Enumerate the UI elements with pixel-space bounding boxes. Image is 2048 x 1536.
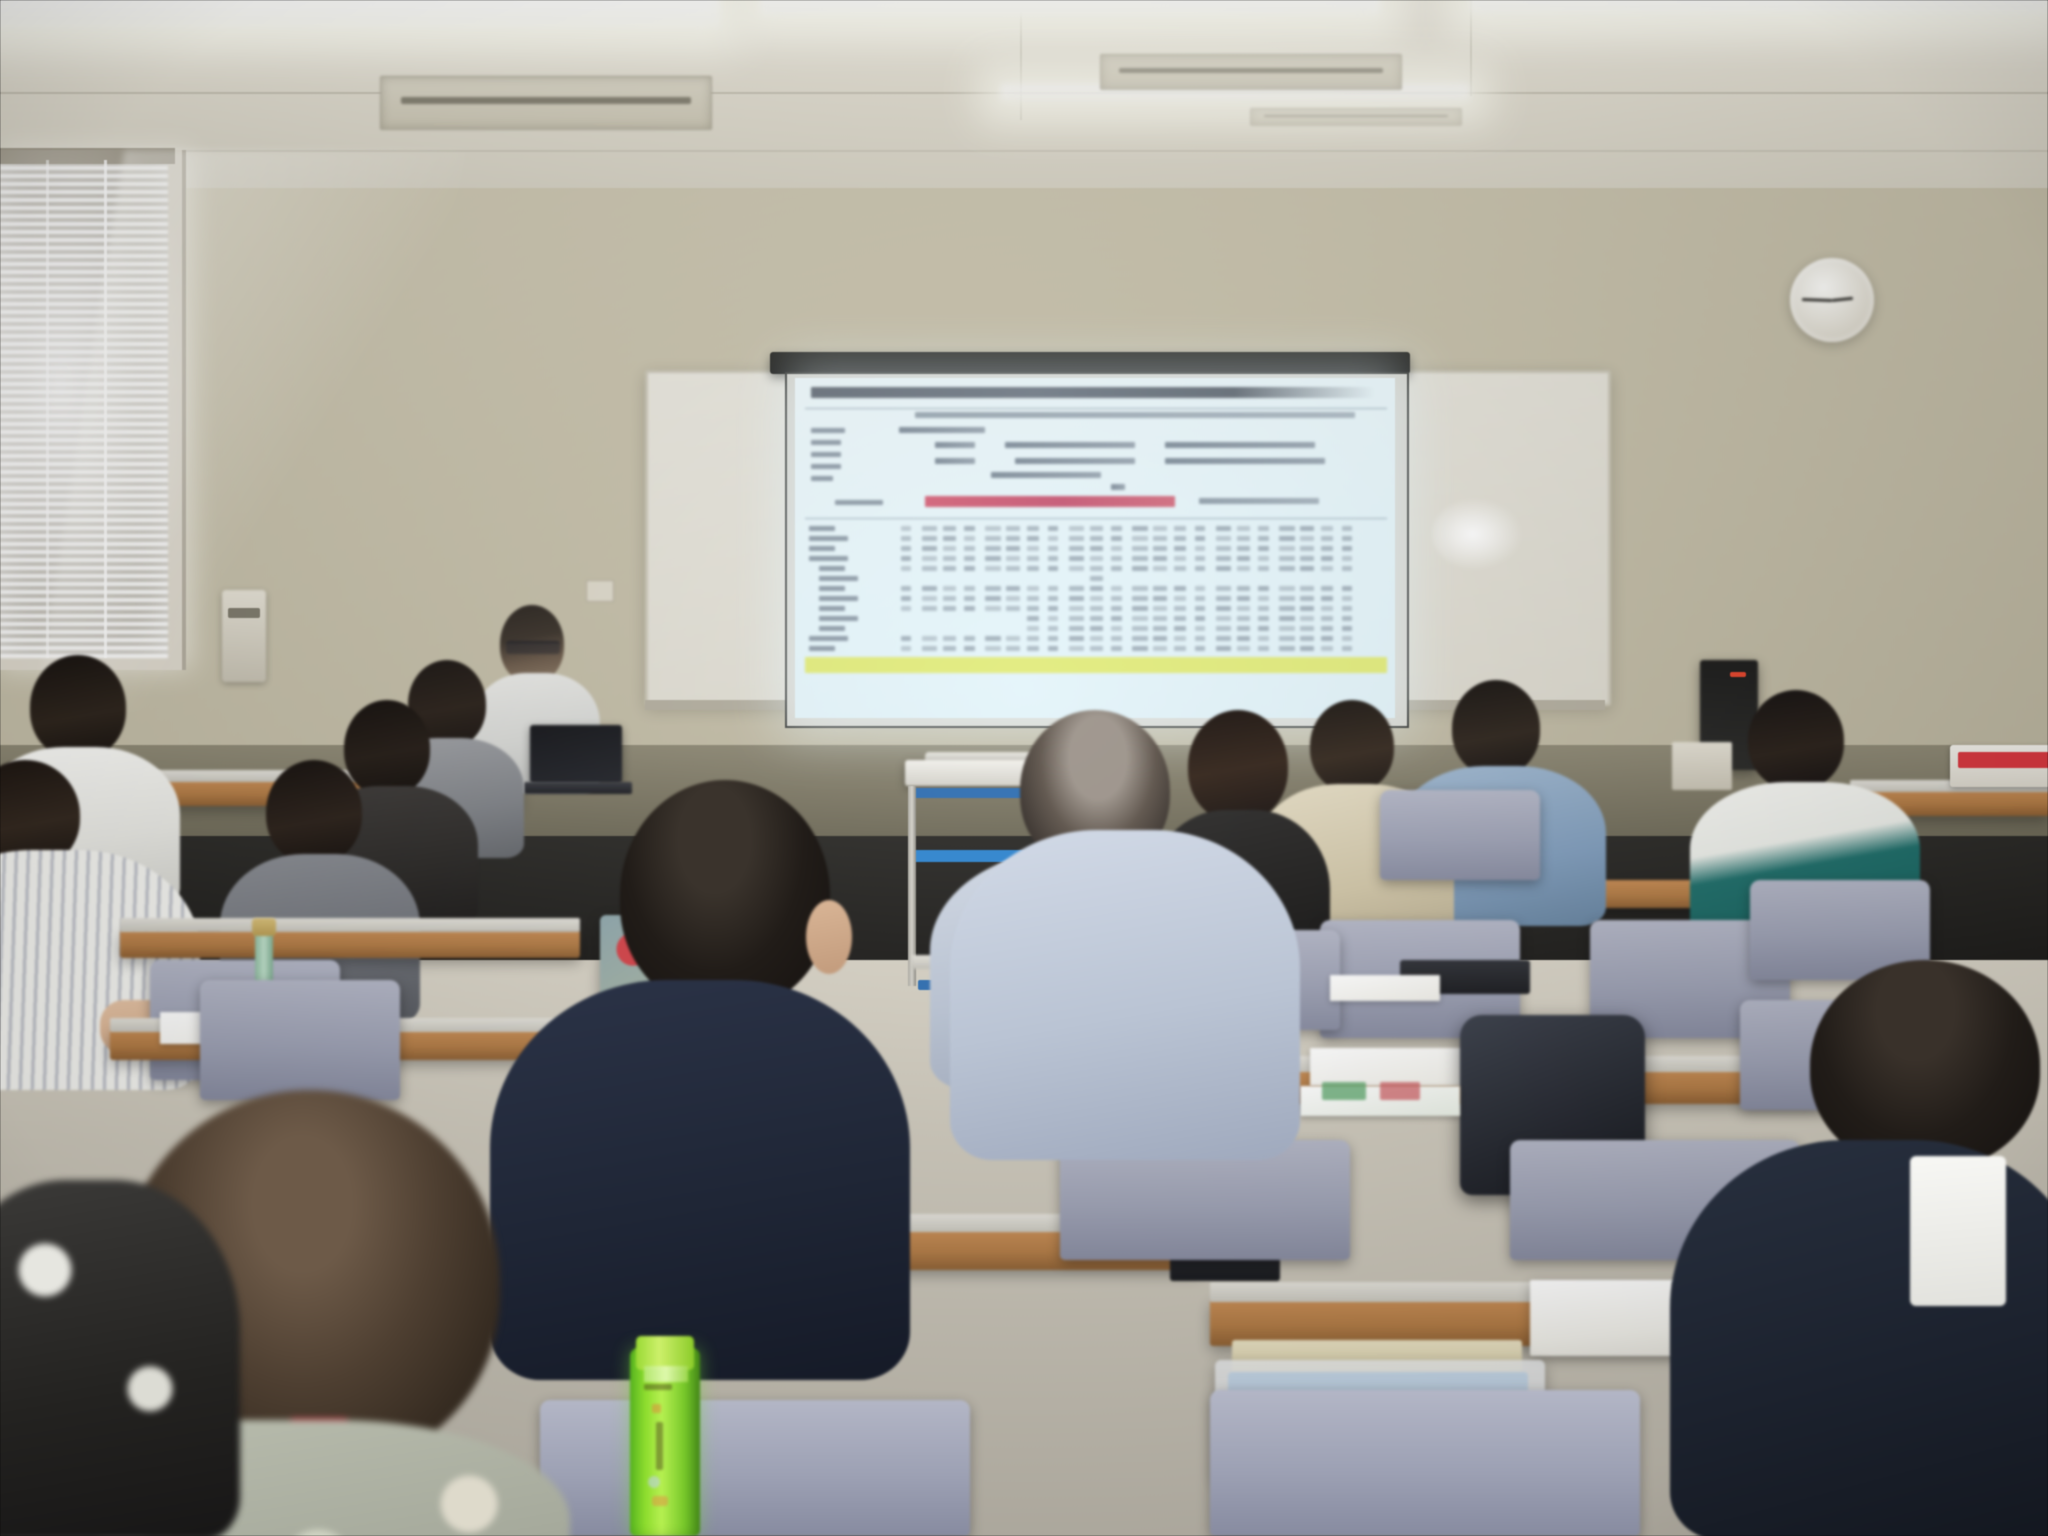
slide-table-cell xyxy=(1258,526,1269,531)
slide-table-cell xyxy=(1111,596,1122,601)
slide-row-label xyxy=(809,646,835,651)
chair[interactable] xyxy=(540,1400,970,1536)
slide-table-cell xyxy=(1195,546,1205,551)
slide-table-cell xyxy=(922,646,937,651)
slide-table-cell xyxy=(1342,556,1352,561)
slide-table-cell xyxy=(1300,546,1314,551)
slide-table-cell xyxy=(1195,636,1205,641)
slide-row-label xyxy=(819,566,845,571)
slide-table-cell xyxy=(1111,526,1122,531)
slide-table-cell xyxy=(1279,536,1295,541)
red-box-label xyxy=(1958,752,2048,768)
slide-table-cell xyxy=(1132,526,1148,531)
slide-table-cell xyxy=(1006,586,1020,591)
slide-table-cell xyxy=(1132,616,1148,621)
slide-table-cell xyxy=(1300,616,1314,621)
slide-table-cell xyxy=(1174,596,1186,601)
slide-table-cell xyxy=(1216,646,1231,651)
slide-table-cell xyxy=(1342,586,1352,591)
slide-table-cell xyxy=(1090,596,1103,601)
slide-table-cell xyxy=(1342,536,1352,541)
slide-table-cell xyxy=(1006,646,1020,651)
slide-table-cell xyxy=(1027,556,1039,561)
slide-table-cell xyxy=(1153,636,1167,641)
slide-table-cell xyxy=(1132,636,1148,641)
wall-phone-slot xyxy=(228,608,260,618)
slide-table-cell xyxy=(1174,536,1186,541)
slide-table-cell xyxy=(1216,586,1231,591)
slide-table-cell xyxy=(1300,636,1314,641)
slide-table-cell xyxy=(1090,576,1103,581)
slide-table-cell xyxy=(1069,616,1084,621)
slide-highlight-text xyxy=(925,496,1175,507)
slide-row-label xyxy=(809,526,835,531)
slide-table-cell xyxy=(964,606,975,611)
slide-table-cell xyxy=(1069,626,1084,631)
attendee-head xyxy=(1188,710,1288,822)
slide-table-cell xyxy=(985,536,1001,541)
slide-table-cell xyxy=(1048,616,1058,621)
slide-table-cell xyxy=(1216,526,1231,531)
slide-table-cell xyxy=(922,536,937,541)
slide-table-cell xyxy=(1006,536,1020,541)
slide-table-cell xyxy=(1300,536,1314,541)
slide-table-cell xyxy=(943,606,956,611)
slide-row-label xyxy=(809,556,848,561)
desk xyxy=(120,930,580,958)
slide-table-cell xyxy=(1153,626,1167,631)
slide-table-cell xyxy=(1090,636,1103,641)
slide-table-cell xyxy=(1216,566,1231,571)
slide-table-cell xyxy=(1111,626,1122,631)
air-vent xyxy=(1100,54,1402,90)
slide-row-label xyxy=(819,586,845,591)
slide-table-cell xyxy=(1090,536,1103,541)
slide-table-cell xyxy=(1006,566,1020,571)
slide-row-label xyxy=(819,616,858,621)
slide-table-cell xyxy=(1195,586,1205,591)
slide-table-cell xyxy=(1132,646,1148,651)
attendee-head xyxy=(344,700,430,796)
slide-table-cell xyxy=(922,566,937,571)
slide-table-cell xyxy=(1321,536,1333,541)
slide-table-cell xyxy=(1258,596,1269,601)
slide-table-cell xyxy=(1258,616,1269,621)
slide-table-cell xyxy=(1300,596,1314,601)
slide-table-cell xyxy=(1216,616,1231,621)
slide-table-cell xyxy=(1111,556,1122,561)
slide-table-cell xyxy=(1279,616,1295,621)
slide-table-cell xyxy=(1132,606,1148,611)
slide-table-cell xyxy=(985,646,1001,651)
slide-table-cell xyxy=(943,536,956,541)
slide-table-cell xyxy=(1090,616,1103,621)
bottle-label-mark xyxy=(652,1496,668,1506)
ceiling-tile-line xyxy=(1020,0,1022,120)
slide-row-label xyxy=(809,636,848,641)
slide-table-cell xyxy=(1321,526,1333,531)
slide-table-cell xyxy=(985,586,1001,591)
ceiling-light xyxy=(0,0,720,28)
slide-table-cell xyxy=(1111,606,1122,611)
slide-table-cell xyxy=(1195,566,1205,571)
slide-table-cell xyxy=(1069,586,1084,591)
chair[interactable] xyxy=(200,980,400,1100)
slide-table-cell xyxy=(1321,626,1333,631)
slide-table-cell xyxy=(1195,536,1205,541)
slide-table-cell xyxy=(1321,586,1333,591)
slide-table-cell xyxy=(943,566,956,571)
slide-table-cell xyxy=(1132,566,1148,571)
slide-table-cell xyxy=(1342,626,1352,631)
slide-table-cell xyxy=(1258,546,1269,551)
slide-table-cell xyxy=(1111,586,1122,591)
slide-table-cell xyxy=(964,596,975,601)
slide-table-cell xyxy=(1195,626,1205,631)
attendee-torso xyxy=(490,980,910,1380)
chair[interactable] xyxy=(1210,1390,1640,1536)
slide-table-cell xyxy=(1048,626,1058,631)
attendee-ear xyxy=(806,900,852,974)
whiteboard-glare xyxy=(1432,498,1522,570)
slide-table-cell xyxy=(1342,546,1352,551)
slide-table-cell xyxy=(1216,546,1231,551)
laptop-keyboard-base xyxy=(524,782,632,794)
slide-table-cell xyxy=(901,546,911,551)
umbrella-handle xyxy=(252,918,276,936)
slide-table-cell xyxy=(1237,636,1250,641)
wall-outlet xyxy=(586,580,614,602)
slide-table-cell xyxy=(943,646,956,651)
slide-table-cell xyxy=(901,596,911,601)
bottle-neck xyxy=(644,1366,688,1382)
bottle-label-mark xyxy=(652,1404,661,1413)
slide-table-cell xyxy=(1237,586,1250,591)
slide-table-cell xyxy=(1237,546,1250,551)
slide-table-cell xyxy=(1090,606,1103,611)
paper-red-mark xyxy=(1380,1082,1420,1100)
bottle-cap[interactable] xyxy=(636,1336,694,1370)
slide-table-cell xyxy=(943,636,956,641)
slide-table-cell xyxy=(1279,646,1295,651)
slide-table-cell xyxy=(1258,606,1269,611)
slide-table-cell xyxy=(985,636,1001,641)
slide-table-cell xyxy=(1153,526,1167,531)
slide-table-cell xyxy=(1321,606,1333,611)
ceiling-light xyxy=(1470,0,2048,14)
slide-table-cell xyxy=(1153,586,1167,591)
slide-table-cell xyxy=(1006,546,1020,551)
slide-row-label xyxy=(819,596,858,601)
slide-table-cell xyxy=(964,566,975,571)
attendee-collar xyxy=(1910,1156,2006,1306)
slide-table-cell xyxy=(1069,536,1084,541)
slide-table-cell xyxy=(1174,616,1186,621)
slide-yellow-row xyxy=(805,657,1387,673)
slide-table-cell xyxy=(1258,556,1269,561)
slide-table-cell xyxy=(1258,566,1269,571)
slide-table-cell xyxy=(1069,646,1084,651)
slide-table-cell xyxy=(1027,616,1039,621)
slide-table-cell xyxy=(1195,606,1205,611)
slide-table-cell xyxy=(1027,626,1039,631)
slide-table-cell xyxy=(1195,526,1205,531)
slide-table-cell xyxy=(1279,636,1295,641)
slide-table-cell xyxy=(922,556,937,561)
slide-table-cell xyxy=(1300,626,1314,631)
slide-table-cell xyxy=(1174,556,1186,561)
slide-table-cell xyxy=(1342,646,1352,651)
slide-table-cell xyxy=(1342,526,1352,531)
speaker-led-indicator xyxy=(1730,672,1746,677)
slide-table-cell xyxy=(1174,566,1186,571)
slide-table-cell xyxy=(901,536,911,541)
slide-table-cell xyxy=(901,566,911,571)
slide-table-cell xyxy=(964,526,975,531)
desk-edge xyxy=(120,918,580,932)
slide-table-cell xyxy=(1090,626,1103,631)
slide-table-cell xyxy=(1321,546,1333,551)
slide-table-cell xyxy=(901,556,911,561)
slide-table-cell xyxy=(1111,546,1122,551)
slide-table-cell xyxy=(1321,616,1333,621)
slide-table-cell xyxy=(1321,596,1333,601)
slide-table-cell xyxy=(985,546,1001,551)
slide-table-cell xyxy=(901,586,911,591)
slide-table-cell xyxy=(1069,596,1084,601)
slide-table-cell xyxy=(1195,596,1205,601)
slide-table-cell xyxy=(1279,626,1295,631)
slide-table-cell xyxy=(1111,566,1122,571)
slide-table-cell xyxy=(1279,566,1295,571)
slide-table-cell xyxy=(1048,606,1058,611)
slide-table-cell xyxy=(1279,596,1295,601)
slide-table-cell xyxy=(1258,586,1269,591)
slide-table-cell xyxy=(1006,636,1020,641)
slide-table-cell xyxy=(1048,546,1058,551)
slide-table-cell xyxy=(943,596,956,601)
slide-table-cell xyxy=(964,636,975,641)
paper-green-mark xyxy=(1322,1082,1366,1100)
slide-table-cell xyxy=(1111,616,1122,621)
slide-table-cell xyxy=(1300,566,1314,571)
slide-table-cell xyxy=(922,586,937,591)
slide-table-cell xyxy=(1048,646,1058,651)
slide-table-cell xyxy=(1216,606,1231,611)
slide-table-cell xyxy=(1006,596,1020,601)
slide-row-label xyxy=(819,626,845,631)
attendee-head xyxy=(620,780,830,1010)
slide-table-cell xyxy=(943,586,956,591)
slide-table-cell xyxy=(1027,526,1039,531)
slide-table-cell xyxy=(1258,626,1269,631)
slide-row-label xyxy=(809,546,835,551)
slide-table-cell xyxy=(1153,536,1167,541)
slide-table-cell xyxy=(1027,586,1039,591)
slide-table-cell xyxy=(1132,546,1148,551)
slide-table-cell xyxy=(1027,606,1039,611)
wall-phone[interactable] xyxy=(222,590,266,682)
slide-table-cell xyxy=(922,526,937,531)
slide-table-cell xyxy=(1111,536,1122,541)
slide-table-cell xyxy=(1174,586,1186,591)
slide-table-cell xyxy=(985,556,1001,561)
slide-table-cell xyxy=(901,636,911,641)
slide-table-cell xyxy=(1342,606,1352,611)
ceiling-tile-line xyxy=(1470,0,1472,96)
slide-table-cell xyxy=(1279,526,1295,531)
attendee-head xyxy=(30,655,126,759)
slide-table-cell xyxy=(943,556,956,561)
slide-table-cell xyxy=(1174,646,1186,651)
slide-row-label xyxy=(819,606,845,611)
slide-table-cell xyxy=(1279,606,1295,611)
slide-table-cell xyxy=(1216,636,1231,641)
slide-table-cell xyxy=(922,596,937,601)
slide-table-cell xyxy=(1090,556,1103,561)
slide-table-cell xyxy=(1342,566,1352,571)
slide-table-cell xyxy=(1237,536,1250,541)
slide-table-cell xyxy=(1216,536,1231,541)
slide-table-cell xyxy=(1216,626,1231,631)
slide-table-cell xyxy=(1006,526,1020,531)
slide-table-cell xyxy=(1237,616,1250,621)
slide-table-cell xyxy=(1048,636,1058,641)
slide-table-cell xyxy=(1321,646,1333,651)
slide-table-cell xyxy=(1048,596,1058,601)
slide-table-cell xyxy=(1153,606,1167,611)
slide-table-cell xyxy=(1132,556,1148,561)
slide-table-cell xyxy=(901,646,911,651)
slide-table-cell xyxy=(1090,526,1103,531)
slide-table-cell xyxy=(1174,636,1186,641)
slide-table-cell xyxy=(1216,596,1231,601)
slide-table-cell xyxy=(1111,636,1122,641)
slide-table-cell xyxy=(1258,646,1269,651)
slide-table-cell xyxy=(1174,626,1186,631)
slide-row-label xyxy=(809,536,848,541)
slide-table-cell xyxy=(1342,616,1352,621)
slide-table-cell xyxy=(1153,546,1167,551)
projection-screen-housing xyxy=(770,352,1410,374)
slide-table-cell xyxy=(985,596,1001,601)
slide-table-cell xyxy=(1216,556,1231,561)
slide-table-cell xyxy=(985,566,1001,571)
slide-table-cell xyxy=(922,606,937,611)
slide-table-cell xyxy=(1111,646,1122,651)
slide-table-cell xyxy=(1237,646,1250,651)
slide-table-cell xyxy=(1048,586,1058,591)
attendee-head xyxy=(1748,690,1844,790)
slide-table-cell xyxy=(1153,616,1167,621)
slide-table-cell xyxy=(1237,596,1250,601)
slide-table-cell xyxy=(1090,566,1103,571)
slide-table-cell xyxy=(1321,566,1333,571)
slide-table-cell xyxy=(1258,636,1269,641)
slide-table-cell xyxy=(1048,526,1058,531)
slide-table-cell xyxy=(1069,566,1084,571)
slide-table-cell xyxy=(1132,586,1148,591)
slide-table-cell xyxy=(922,636,937,641)
slide-spreadsheet xyxy=(805,524,1385,656)
chair[interactable] xyxy=(1380,790,1540,880)
slide-table-cell xyxy=(1027,536,1039,541)
slide-table-cell xyxy=(1237,626,1250,631)
wall-clock xyxy=(1790,258,1874,342)
attendee-torso xyxy=(0,1180,240,1536)
slide-table-cell xyxy=(1090,646,1103,651)
slide-table-cell xyxy=(1006,606,1020,611)
clock-minute-hand xyxy=(1802,298,1832,302)
slide-table-cell xyxy=(1195,556,1205,561)
laptop[interactable] xyxy=(530,725,622,783)
attendee-head xyxy=(1452,680,1540,776)
slide-table-cell xyxy=(1237,606,1250,611)
slide-table-cell xyxy=(964,646,975,651)
ceiling-panel-seam xyxy=(1250,108,1462,126)
slide-table-cell xyxy=(1069,556,1084,561)
slide-table-cell xyxy=(1048,556,1058,561)
bottle-label-mark xyxy=(648,1476,660,1488)
slide-title-text xyxy=(811,387,1375,398)
slide-content xyxy=(795,378,1395,718)
slide-table-cell xyxy=(1153,646,1167,651)
slide-table-cell xyxy=(1132,626,1148,631)
slide-table-cell xyxy=(1300,606,1314,611)
slide-table-cell xyxy=(1300,646,1314,651)
slide-table-cell xyxy=(1090,586,1103,591)
slide-table-cell xyxy=(901,606,911,611)
handout-paper xyxy=(1310,1048,1470,1086)
slide-table-cell xyxy=(1321,556,1333,561)
slide-table-cell xyxy=(1300,586,1314,591)
slide-table-cell xyxy=(985,606,1001,611)
slide-table-cell xyxy=(1195,616,1205,621)
slide-table-cell xyxy=(1300,556,1314,561)
slide-table-cell xyxy=(1069,606,1084,611)
slide-table-cell xyxy=(985,526,1001,531)
slide-table-cell xyxy=(1132,596,1148,601)
slide-table-cell xyxy=(1195,646,1205,651)
ceiling-light xyxy=(760,0,1380,16)
slide-table-cell xyxy=(922,546,937,551)
slide-table-cell xyxy=(1048,566,1058,571)
slide-table-cell xyxy=(1300,526,1314,531)
slide-table-cell xyxy=(1237,556,1250,561)
slide-table-cell xyxy=(1027,546,1039,551)
slide-table-cell xyxy=(964,556,975,561)
slide-table-cell xyxy=(1237,526,1250,531)
slide-table-cell xyxy=(964,546,975,551)
slide-table-cell xyxy=(1027,646,1039,651)
slide-table-cell xyxy=(1279,586,1295,591)
slide-table-cell xyxy=(1027,596,1039,601)
slide-table-cell xyxy=(964,536,975,541)
slide-table-cell xyxy=(1006,556,1020,561)
slide-table-cell xyxy=(1153,566,1167,571)
attendee-torso xyxy=(950,830,1300,1160)
slide-table-cell xyxy=(1027,636,1039,641)
slide-table-cell xyxy=(1069,546,1084,551)
slide-table-cell xyxy=(1132,536,1148,541)
slide-table-cell xyxy=(1342,596,1352,601)
slide-table-cell xyxy=(1090,546,1103,551)
bottle-label-text-vertical xyxy=(656,1422,663,1470)
attendee-head xyxy=(1810,960,2040,1170)
slide-table-cell xyxy=(1174,526,1186,531)
slide-table-cell xyxy=(1321,636,1333,641)
slide-table-cell xyxy=(1258,536,1269,541)
